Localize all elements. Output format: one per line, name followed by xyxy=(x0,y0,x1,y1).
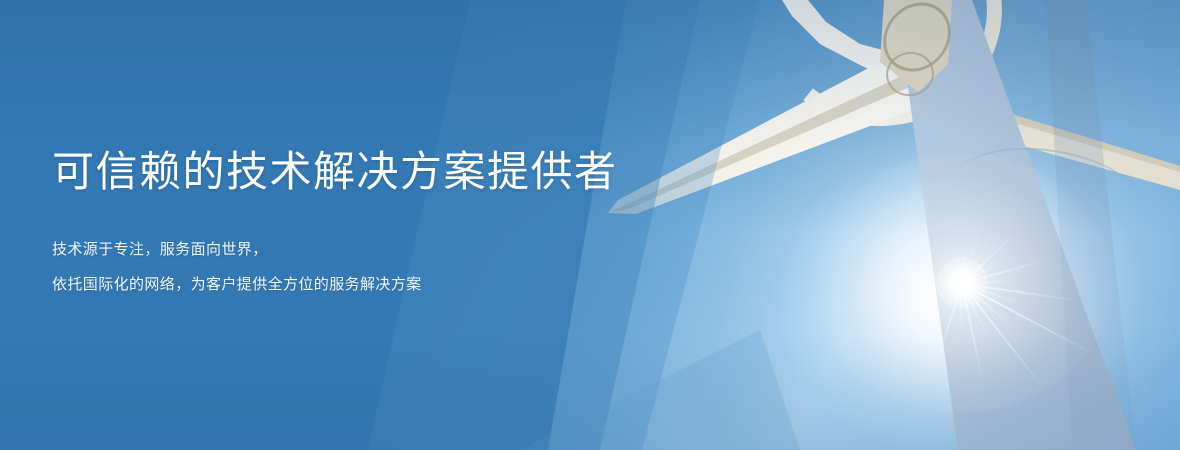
banner-content: 可信赖的技术解决方案提供者 技术源于专注，服务面向世界， 依托国际化的网络，为客… xyxy=(52,0,692,450)
hero-banner: 可信赖的技术解决方案提供者 技术源于专注，服务面向世界， 依托国际化的网络，为客… xyxy=(0,0,1180,450)
banner-subtitle: 技术源于专注，服务面向世界， 依托国际化的网络，为客户提供全方位的服务解决方案 xyxy=(52,232,692,302)
banner-subtitle-line-2: 依托国际化的网络，为客户提供全方位的服务解决方案 xyxy=(52,267,692,302)
banner-subtitle-line-1: 技术源于专注，服务面向世界， xyxy=(52,232,692,267)
banner-headline: 可信赖的技术解决方案提供者 xyxy=(52,148,692,195)
